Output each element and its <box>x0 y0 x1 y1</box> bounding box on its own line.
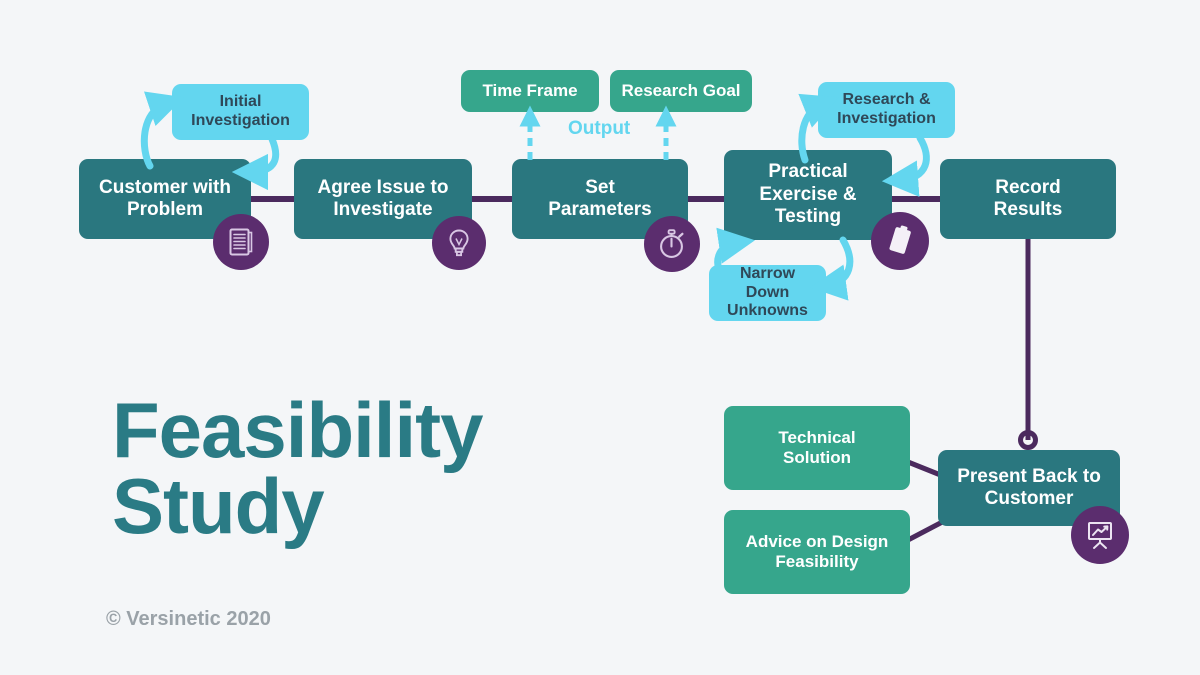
document-list-icon <box>228 227 254 257</box>
node-label: Technical Solution <box>778 428 855 468</box>
output-node-time-frame[interactable]: Time Frame <box>461 70 599 112</box>
arrow-research-to-practical <box>900 138 926 180</box>
connector-joint-node <box>1021 433 1036 448</box>
node-label: Initial Investigation <box>191 93 290 131</box>
cyan-node-research-investigation[interactable]: Research & Investigation <box>818 82 955 138</box>
arrow-practical-to-narrow <box>828 240 850 285</box>
node-label: Customer with Problem <box>99 177 231 222</box>
icon-badge-document <box>213 214 269 270</box>
node-label: Research Goal <box>621 81 740 101</box>
node-label: Agree Issue to Investigate <box>318 177 449 222</box>
process-node-record-results[interactable]: Record Results <box>940 159 1116 239</box>
node-label: Practical Exercise & Testing <box>759 161 856 228</box>
deliverable-node-advice-on-design[interactable]: Advice on Design Feasibility <box>724 510 910 594</box>
node-label: Advice on Design Feasibility <box>746 532 889 572</box>
lightbulb-icon <box>446 228 472 258</box>
node-label: Set Parameters <box>548 177 652 222</box>
node-label: Research & Investigation <box>837 91 936 129</box>
node-label: Narrow Down Unknowns <box>717 265 818 322</box>
stopwatch-icon <box>657 228 687 260</box>
copyright-notice: © Versinetic 2020 <box>106 608 271 631</box>
cyan-node-narrow-down-unknowns[interactable]: Narrow Down Unknowns <box>709 265 826 321</box>
output-label: Output <box>568 118 630 140</box>
diagram-canvas: Time Frame Research Goal Output Initial … <box>0 0 1200 675</box>
icon-badge-stopwatch <box>644 216 700 272</box>
deliverable-node-technical-solution[interactable]: Technical Solution <box>724 406 910 490</box>
cyan-node-initial-investigation[interactable]: Initial Investigation <box>172 84 309 140</box>
title-line-1: Feasibility <box>112 392 482 468</box>
arrow-initial-to-customer <box>250 139 276 172</box>
icon-badge-presentation <box>1071 506 1129 564</box>
page-title: Feasibility Study <box>112 392 482 545</box>
arrow-customer-to-initial <box>144 103 167 166</box>
output-node-research-goal[interactable]: Research Goal <box>610 70 752 112</box>
icon-badge-lightbulb <box>432 216 486 270</box>
presentation-chart-icon <box>1084 519 1116 551</box>
node-label: Time Frame <box>482 81 577 101</box>
clipboard-icon <box>885 224 915 258</box>
node-label: Record Results <box>994 177 1063 222</box>
icon-badge-clipboard <box>871 212 929 270</box>
process-node-practical-exercise[interactable]: Practical Exercise & Testing <box>724 150 892 240</box>
node-label: Present Back to Customer <box>957 466 1101 511</box>
title-line-2: Study <box>112 468 482 544</box>
